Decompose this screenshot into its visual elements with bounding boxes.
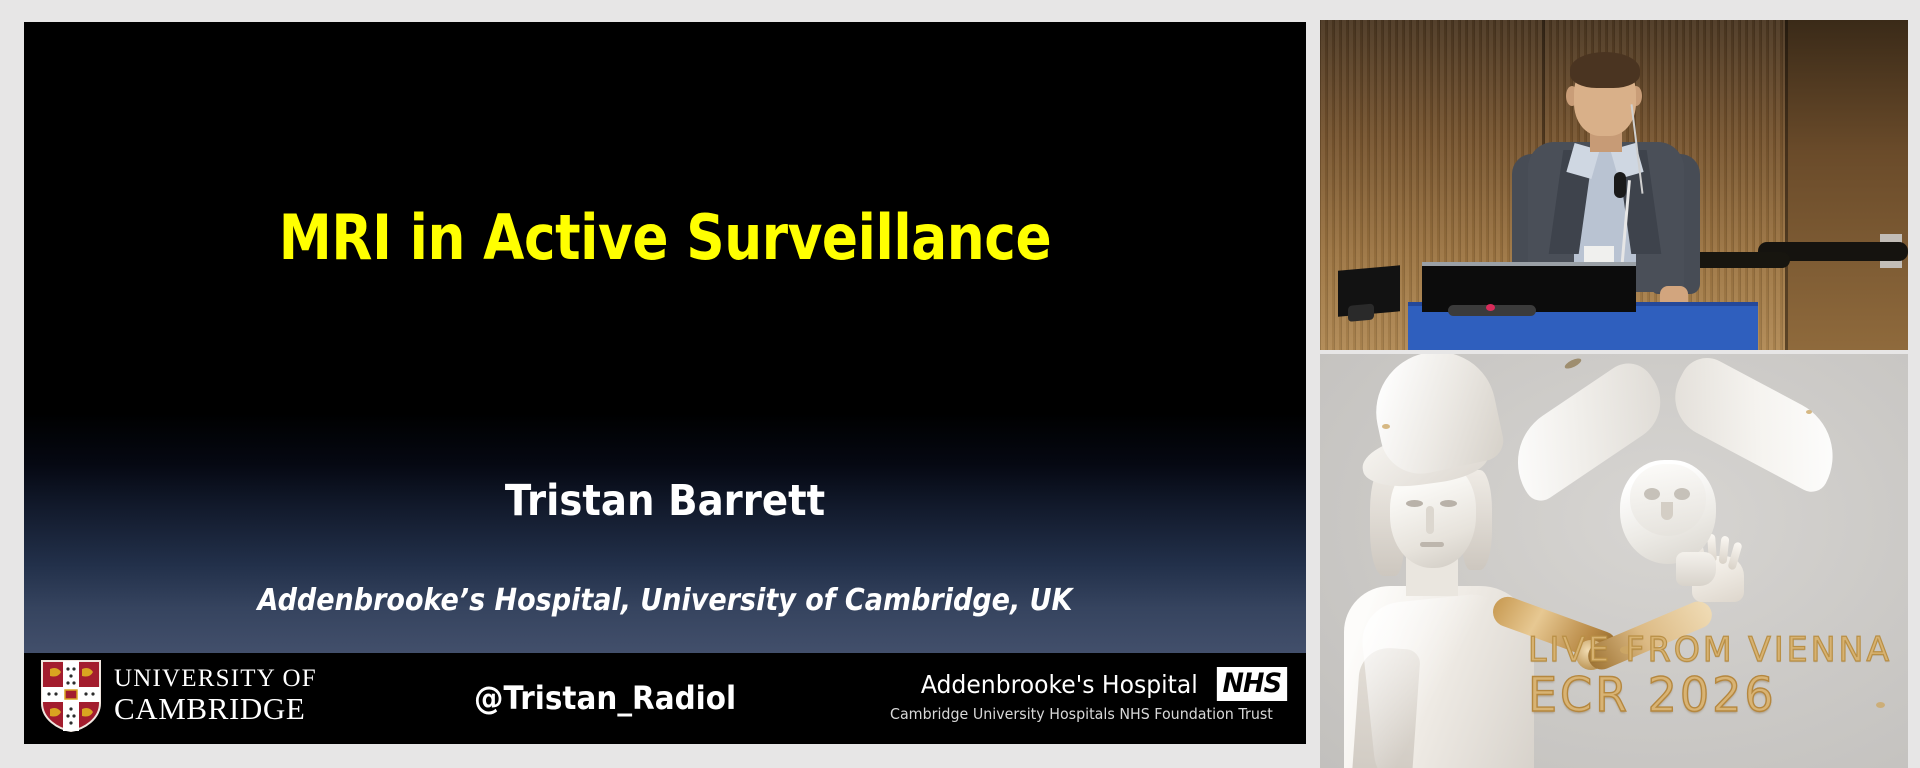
owl-figure [1508,382,1838,602]
athena-mouth [1420,542,1444,547]
owl-talons [1676,552,1716,586]
av-equipment-lens [1348,304,1374,322]
lectern-monitor [1422,262,1636,312]
sparkle-icon [1382,424,1390,429]
owl-beak [1661,502,1673,520]
owl-face [1630,464,1706,536]
presentation-slide[interactable]: MRI in Active Surveillance Tristan Barre… [24,22,1306,744]
slide-speaker-name: Tristan Barrett [88,480,1242,523]
cambridge-crest-icon [40,659,102,733]
ecr-year-label: ECR 2026 [1528,670,1892,722]
twitter-handle: @Tristan_Radiol [474,679,736,717]
microphone-icon [1614,172,1626,198]
cambridge-wordmark: UNIVERSITY OF CAMBRIDGE [114,666,317,725]
athena-eye-right [1440,500,1457,507]
nhs-badge: NHS [1217,667,1287,701]
sparkle-icon [1806,410,1812,414]
slide-affiliation: Addenbrooke’s Hospital, University of Ca… [88,586,1242,616]
slide-content-area: MRI in Active Surveillance Tristan Barre… [24,22,1306,653]
cambridge-wordmark-line1: UNIVERSITY OF [114,666,317,693]
addenbrookes-hospital-label: Addenbrooke's Hospital [921,670,1198,699]
ecr-branding-panel[interactable]: LIVE FROM VIENNA ECR 2026 [1320,354,1908,768]
athena-nose [1426,506,1434,534]
addenbrookes-nhs-logo: Addenbrooke's Hospital NHS Cambridge Uni… [869,667,1289,723]
slide-logo-bar: UNIVERSITY OF CAMBRIDGE @Tristan_Radiol … [24,653,1306,744]
av-equipment-box [1338,265,1400,316]
university-of-cambridge-logo: UNIVERSITY OF CAMBRIDGE [40,659,317,733]
screen-root: MRI in Active Surveillance Tristan Barre… [0,0,1920,768]
ecr-gold-lockup: LIVE FROM VIENNA ECR 2026 [1528,633,1900,722]
owl-eye-left [1644,488,1660,500]
ecr-live-from-vienna: LIVE FROM VIENNA [1528,633,1892,669]
speaker-video-feed[interactable] [1320,20,1908,350]
slide-title: MRI in Active Surveillance [114,207,1217,269]
wall-door-panel [1785,20,1908,350]
athena-eye-left [1406,500,1423,507]
nhs-trust-label: Cambridge University Hospitals NHS Found… [890,705,1289,723]
nhs-primary-row: Addenbrooke's Hospital NHS [869,667,1289,701]
monitor-indicator-light [1486,304,1495,311]
presenter-hair [1570,52,1640,88]
owl-eye-right [1674,488,1690,500]
cambridge-wordmark-line2: CAMBRIDGE [114,693,317,726]
